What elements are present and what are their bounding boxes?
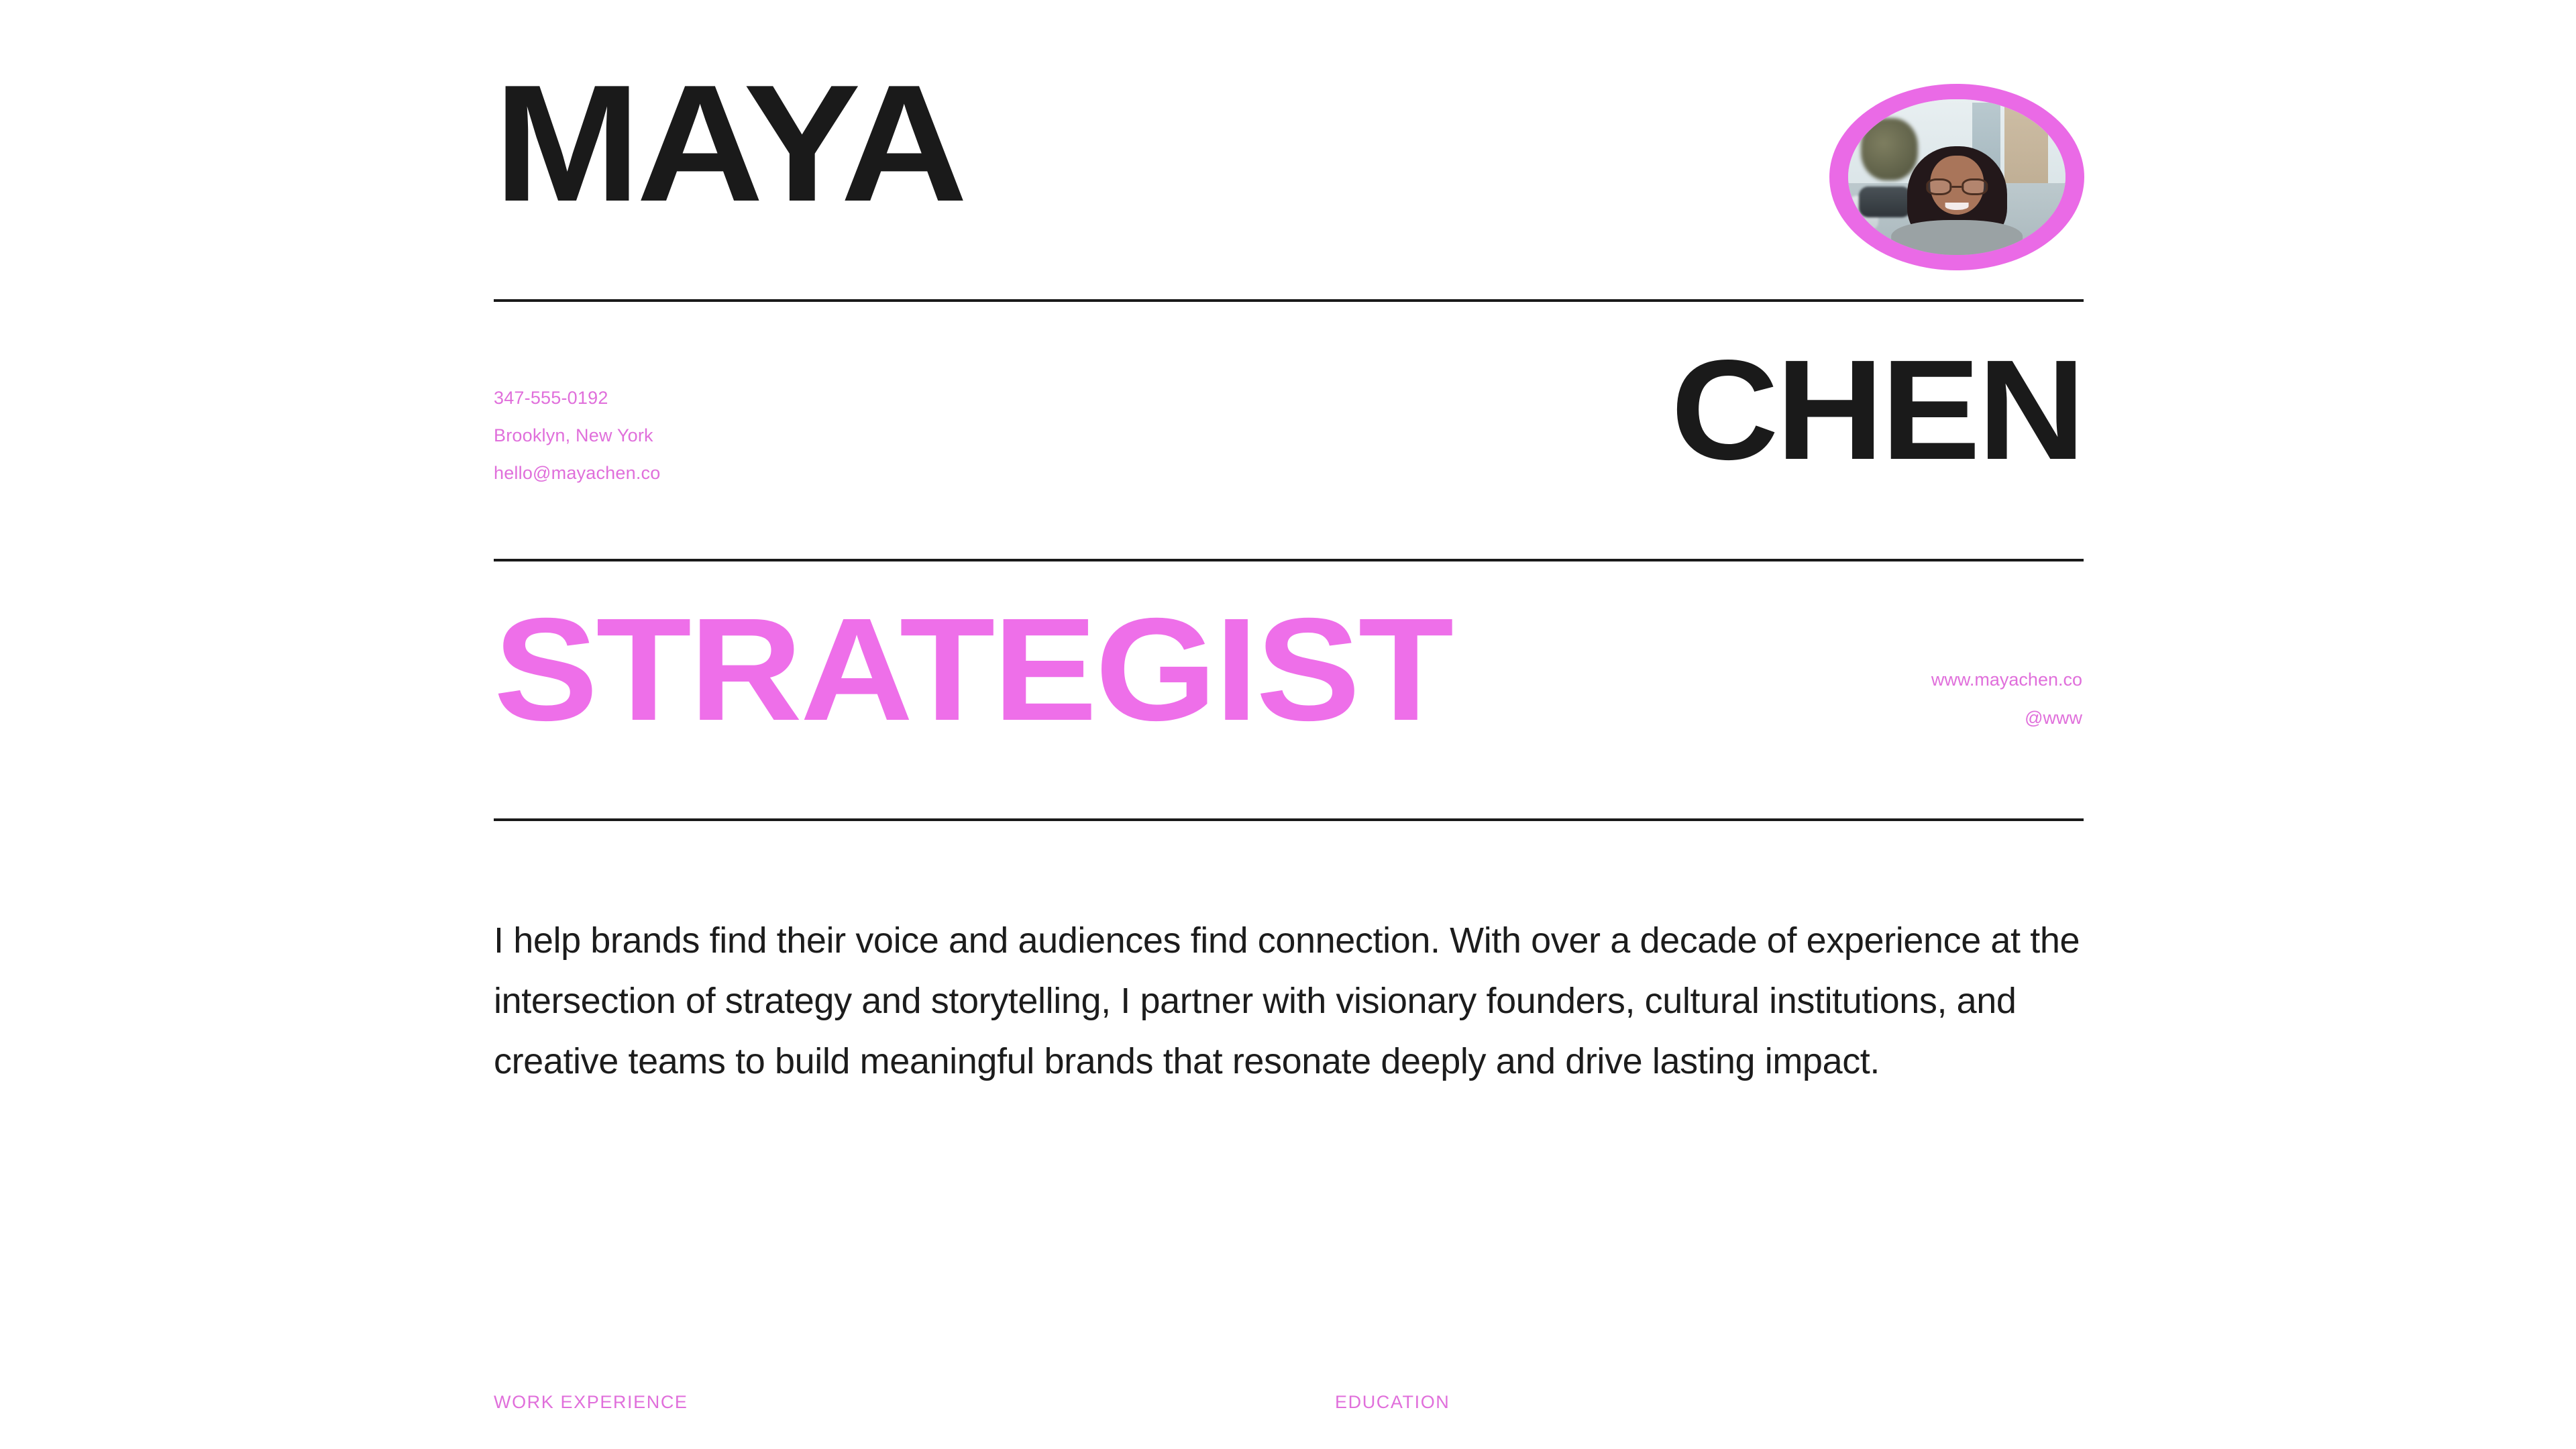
photo-person (1907, 146, 2006, 255)
avatar-photo (1848, 99, 2065, 255)
section-header-work-experience: WORK EXPERIENCE (494, 1392, 688, 1413)
photo-building-right (2004, 105, 2048, 189)
photo-torso (1891, 220, 2023, 255)
avatar (1829, 84, 2084, 270)
section-header-education: EDUCATION (1335, 1392, 1450, 1413)
glasses-lens-left (1926, 178, 1952, 195)
contact-email[interactable]: hello@mayachen.co (494, 454, 660, 492)
social-handle-link[interactable]: @www (1931, 699, 2082, 737)
last-name-heading: CHEN (1671, 350, 2083, 470)
glasses-icon (1926, 178, 1988, 195)
glasses-lens-right (1962, 178, 1988, 195)
website-link[interactable]: www.mayachen.co (1931, 661, 2082, 699)
contact-location: Brooklyn, New York (494, 417, 660, 454)
first-name-heading: MAYA (494, 75, 963, 211)
contact-phone[interactable]: 347-555-0192 (494, 379, 660, 417)
role-heading: STRATEGIST (494, 607, 1452, 733)
divider-rule-top (494, 299, 2084, 302)
photo-car-dark (1859, 186, 1911, 217)
divider-rule-middle (494, 559, 2084, 561)
divider-rule-bottom (494, 818, 2084, 821)
links-block: www.mayachen.co @www (1931, 661, 2082, 737)
glasses-bridge (1952, 186, 1962, 188)
contact-block: 347-555-0192 Brooklyn, New York hello@ma… (494, 379, 660, 492)
resume-page: MAYA 347-555-0192 (0, 0, 2576, 1449)
bio-paragraph: I help brands find their voice and audie… (494, 910, 2090, 1091)
